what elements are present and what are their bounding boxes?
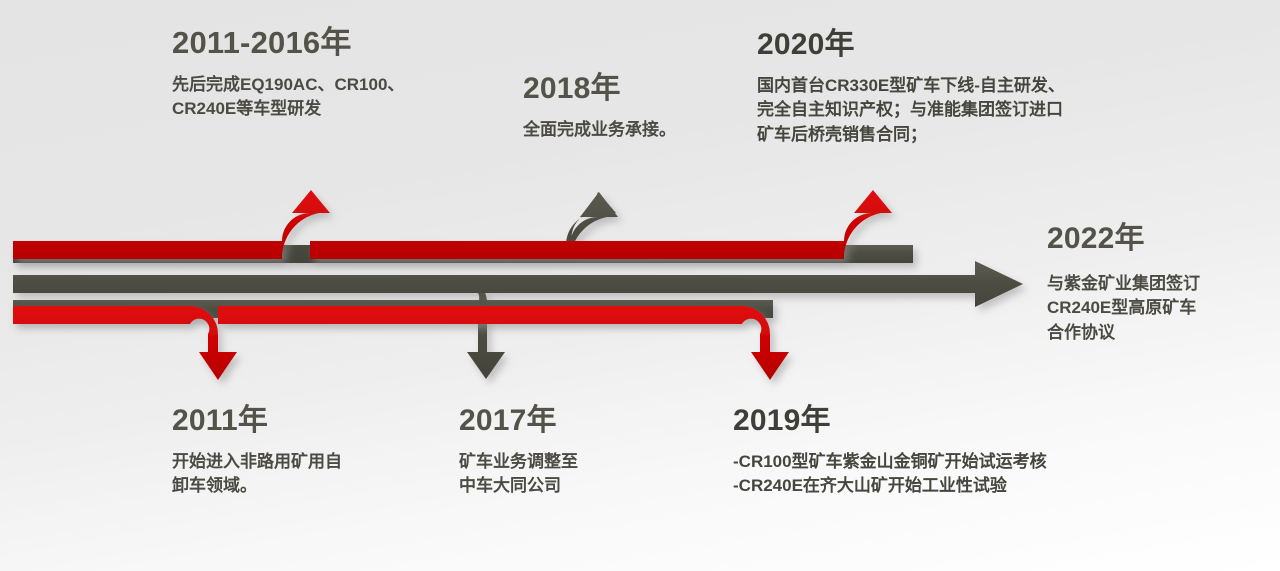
red-down-arrow-2019	[218, 306, 789, 380]
milestone-2018: 2018年 全面完成业务承接。	[523, 72, 773, 142]
milestone-description: 与紫金矿业集团签订 CR240E型高原矿车 合作协议	[1047, 272, 1272, 346]
milestone-year-label: 2011-2016年	[172, 26, 512, 61]
milestone-year-label: 2017年	[459, 404, 729, 438]
red-up-arrow-2011-2016	[13, 190, 330, 259]
milestone-description: 先后完成EQ190AC、CR100、 CR240E等车型研发	[172, 73, 512, 122]
milestone-2011: 2011年 开始进入非路用矿用自 卸车领域。	[172, 404, 452, 499]
milestone-year-label: 2022年	[1047, 222, 1272, 256]
milestone-description: -CR100型矿车紫金山金铜矿开始试运考核 -CR240E在齐大山矿开始工业性试…	[733, 450, 1203, 499]
milestone-2011-2016: 2011-2016年 先后完成EQ190AC、CR100、 CR240E等车型研…	[172, 26, 512, 122]
milestone-2020: 2020年 国内首台CR330E型矿车下线-自主研发、 完全自主知识产权；与准能…	[757, 28, 1217, 148]
milestone-2017: 2017年 矿车业务调整至 中车大同公司	[459, 404, 729, 499]
milestone-year-label: 2018年	[523, 72, 773, 106]
milestone-description: 矿车业务调整至 中车大同公司	[459, 450, 729, 499]
red-down-arrow-2011	[13, 306, 237, 380]
milestone-2019: 2019年 -CR100型矿车紫金山金铜矿开始试运考核 -CR240E在齐大山矿…	[733, 404, 1203, 499]
gray-track-group	[13, 192, 1023, 379]
milestone-year-label: 2019年	[733, 404, 1203, 438]
timeline-diagram: 2011-2016年 先后完成EQ190AC、CR100、 CR240E等车型研…	[0, 0, 1280, 571]
milestone-2022: 2022年 与紫金矿业集团签订 CR240E型高原矿车 合作协议	[1047, 222, 1272, 346]
milestone-description: 开始进入非路用矿用自 卸车领域。	[172, 450, 452, 499]
milestone-year-label: 2011年	[172, 404, 452, 438]
milestone-description: 国内首台CR330E型矿车下线-自主研发、 完全自主知识产权；与准能集团签订进口…	[757, 74, 1217, 148]
milestone-year-label: 2020年	[757, 28, 1217, 62]
milestone-description: 全面完成业务承接。	[523, 118, 773, 143]
